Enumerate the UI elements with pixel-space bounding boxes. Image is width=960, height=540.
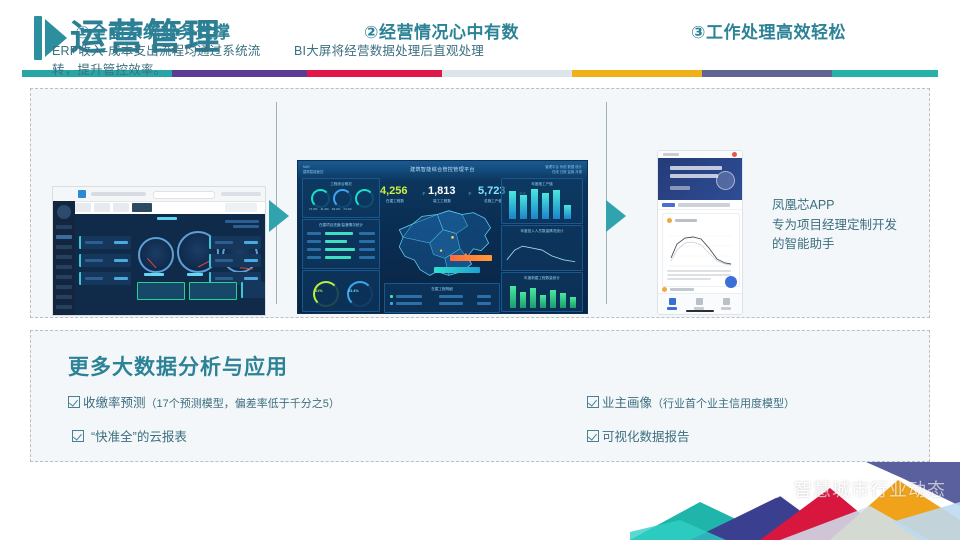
bi-metric-2-unit: 个 — [468, 192, 472, 197]
bi-panel-rings: 61% 23.4% — [302, 270, 380, 312]
more-item-right-1[interactable]: 业主画像（行业首个业主信用度模型） — [587, 392, 795, 411]
bi-map-tag-orange — [450, 255, 492, 261]
more-panel-title: 更多大数据分析与应用 — [68, 351, 288, 381]
app-caption: 凤凰芯APP专为项目经理定制开发的智能助手 — [772, 196, 924, 255]
checkbox-icon[interactable] — [72, 430, 84, 442]
phone-fab-button[interactable] — [725, 276, 737, 288]
bi-panel-detail-title: 在建工程明细 — [431, 287, 453, 292]
app-caption-line: 专为项目经理定制开发 — [772, 216, 924, 236]
erp-tab-strip — [75, 203, 266, 213]
phone-breadcrumb — [658, 200, 742, 210]
erp-dashboard-screenshot — [52, 186, 266, 316]
bi-panel-progress-title: 在建项目进度/监管情况统计 — [319, 223, 363, 228]
card-2-title: ②经营情况心中有数 — [277, 18, 606, 43]
mobile-app-screenshot — [657, 150, 743, 315]
bi-metric-1-label: 在建工程数 — [386, 199, 404, 204]
bi-panel-newbuild: 年度新建工程数量统计 — [501, 272, 583, 312]
bi-panel-staff: 年度投入人员数量情况统计 — [501, 225, 583, 271]
erp-avatar-icon — [57, 205, 71, 219]
phone-hero-banner — [658, 158, 742, 200]
bi-ring-1-value: 61% — [315, 289, 323, 293]
phone-nav-home-icon[interactable] — [669, 298, 676, 305]
app-caption-line: 的智能助手 — [772, 235, 924, 255]
card-3-title: ③工作处理高效轻松 — [607, 18, 930, 43]
watermark-text: 智慧城市行业动态 — [794, 476, 946, 502]
bi-metric-1-value: 4,256 — [380, 185, 408, 197]
bi-panel-output-title: 年度施工产值 — [531, 182, 553, 187]
more-item-right-1-label: 业主画像 — [602, 396, 652, 410]
phone-card-dot-icon — [667, 218, 672, 223]
penguin-icon — [761, 479, 787, 499]
bi-panel-newbuild-title: 年度新建工程数量统计 — [524, 276, 560, 281]
bi-screen-title: 建筑智能综合管控管理平台 — [410, 166, 475, 173]
erp-sidebar — [53, 201, 75, 315]
erp-logo-icon — [78, 190, 86, 198]
more-item-left-1-note: （17个预测模型，偏差率低于千分之5） — [146, 398, 340, 410]
phone-hero-badge-icon — [716, 171, 735, 190]
more-item-right-2-label: 可视化数据报告 — [602, 430, 690, 444]
phone-line-chart-icon — [667, 228, 735, 270]
bi-ring-2-value: 23.4% — [348, 289, 359, 293]
phone-home-indicator — [686, 310, 714, 312]
bi-metric-2-value: 1,813 — [428, 185, 456, 197]
bi-panel-overview-title: 工程综合概况 — [330, 182, 352, 187]
bi-bigscreen-screenshot: 建筑智能综合管控管理平台 MAY建筑智能管控 管理平台 系统 数据 统计在线 日… — [297, 160, 588, 314]
bi-panel-detail: 在建工程明细 — [384, 283, 500, 313]
erp-url-text — [91, 192, 146, 196]
more-item-right-2[interactable]: 可视化数据报告 — [587, 426, 690, 445]
checkbox-icon[interactable] — [587, 396, 599, 408]
checkbox-icon[interactable] — [587, 430, 599, 442]
more-item-left-2-label: “快准全”的云报表 — [91, 430, 187, 444]
bi-metric-2-label: 竣工工程数 — [433, 199, 451, 204]
more-item-left-1[interactable]: 收缴率预测（17个预测模型，偏差率低于千分之5） — [68, 392, 340, 411]
bi-line-chart-icon — [503, 236, 581, 268]
card-2-body: BI大屏将经营数据处理后直观处理 — [294, 42, 594, 61]
phone-nav-profile-icon[interactable] — [723, 298, 730, 305]
bi-corner-left: MAY建筑智能管控 — [303, 165, 323, 175]
phone-notification-icon — [732, 152, 737, 157]
slide-root: 运营管理 ①全面系统业务支撑 ERP收入-成本支出流程均通过系统流转，提升管控效… — [0, 0, 960, 540]
phone-status-bar — [658, 151, 742, 158]
erp-url-field — [153, 191, 215, 199]
bi-corner-right: 管理平台 系统 数据 统计在线 日报 监管 月报 — [545, 165, 582, 175]
app-caption-line: 凤凰芯APP — [772, 196, 924, 216]
phone-nav-list-icon[interactable] — [696, 298, 703, 305]
card-1-body: ERP收入-成本支出流程均通过系统流转，提升管控效率。 — [52, 42, 262, 80]
bi-china-map — [384, 205, 502, 283]
bi-panel-output: 年度施工产值 — [501, 178, 583, 224]
erp-browser-right — [221, 192, 261, 196]
erp-dashboard-body — [75, 214, 265, 315]
phone-section-dot-icon — [662, 287, 667, 292]
bi-panel-overview: 工程综合概况 71.6% 11.4% 33.2% 74.1% — [302, 178, 380, 218]
more-item-right-1-note: （行业首个业主信用度模型） — [652, 398, 795, 410]
checkbox-icon[interactable] — [68, 396, 80, 408]
watermark: 智慧城市行业动态 — [761, 476, 946, 502]
bi-map-tag-teal — [434, 267, 480, 273]
bi-panel-staff-title: 年度投入人员数量情况统计 — [520, 229, 563, 234]
bi-panel-progress: 在建项目进度/监管情况统计 — [302, 219, 380, 269]
bi-metric-3-label: 总施工产值 — [484, 199, 502, 204]
card-1-title: ①全面系统业务支撑 — [30, 18, 276, 43]
more-item-left-1-label: 收缴率预测 — [83, 396, 146, 410]
more-item-left-2[interactable]: “快准全”的云报表 — [72, 426, 187, 445]
bi-metric-1-unit: 个 — [422, 192, 426, 197]
erp-gauge-1 — [138, 237, 174, 273]
